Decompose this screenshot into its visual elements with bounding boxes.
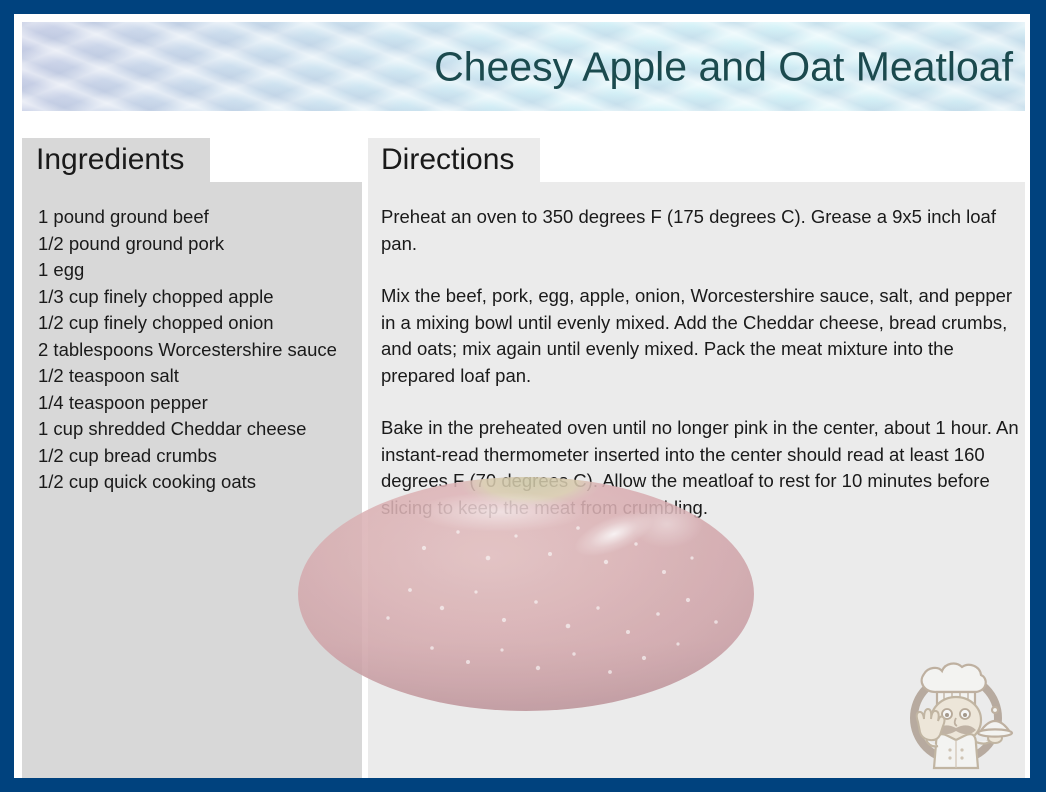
directions-heading-tab: Directions (368, 138, 540, 182)
list-item: 1/2 pound ground pork (38, 231, 352, 258)
list-item: 1/4 teaspoon pepper (38, 390, 352, 417)
recipe-slide: Cheesy Apple and Oat Meatloaf Ingredient… (0, 0, 1046, 792)
list-item: 1 egg (38, 257, 352, 284)
page-title: Cheesy Apple and Oat Meatloaf (434, 43, 1013, 90)
slide-content-area: Cheesy Apple and Oat Meatloaf Ingredient… (14, 14, 1030, 778)
list-item: 1/2 teaspoon salt (38, 363, 352, 390)
list-item: 1/2 cup bread crumbs (38, 443, 352, 470)
directions-body: Preheat an oven to 350 degrees F (175 de… (381, 204, 1021, 521)
ingredients-panel: 1 pound ground beef 1/2 pound ground por… (22, 182, 362, 778)
directions-paragraph: Mix the beef, pork, egg, apple, onion, W… (381, 283, 1021, 389)
list-item: 1/2 cup quick cooking oats (38, 469, 352, 496)
chef-logo (892, 648, 1020, 776)
title-banner: Cheesy Apple and Oat Meatloaf (22, 22, 1025, 111)
list-item: 2 tablespoons Worcestershire sauce (38, 337, 352, 364)
ingredients-list: 1 pound ground beef 1/2 pound ground por… (38, 204, 352, 496)
ingredients-list-wrapper: 1 pound ground beef 1/2 pound ground por… (38, 204, 352, 496)
list-item: 1/2 cup finely chopped onion (38, 310, 352, 337)
list-item: 1/3 cup finely chopped apple (38, 284, 352, 311)
list-item: 1 cup shredded Cheddar cheese (38, 416, 352, 443)
list-item: 1 pound ground beef (38, 204, 352, 231)
directions-paragraph: Preheat an oven to 350 degrees F (175 de… (381, 204, 1021, 257)
ingredients-heading: Ingredients (36, 143, 184, 177)
ingredients-heading-tab: Ingredients (22, 138, 210, 182)
directions-heading: Directions (381, 143, 514, 177)
directions-paragraph: Bake in the preheated oven until no long… (381, 415, 1021, 521)
